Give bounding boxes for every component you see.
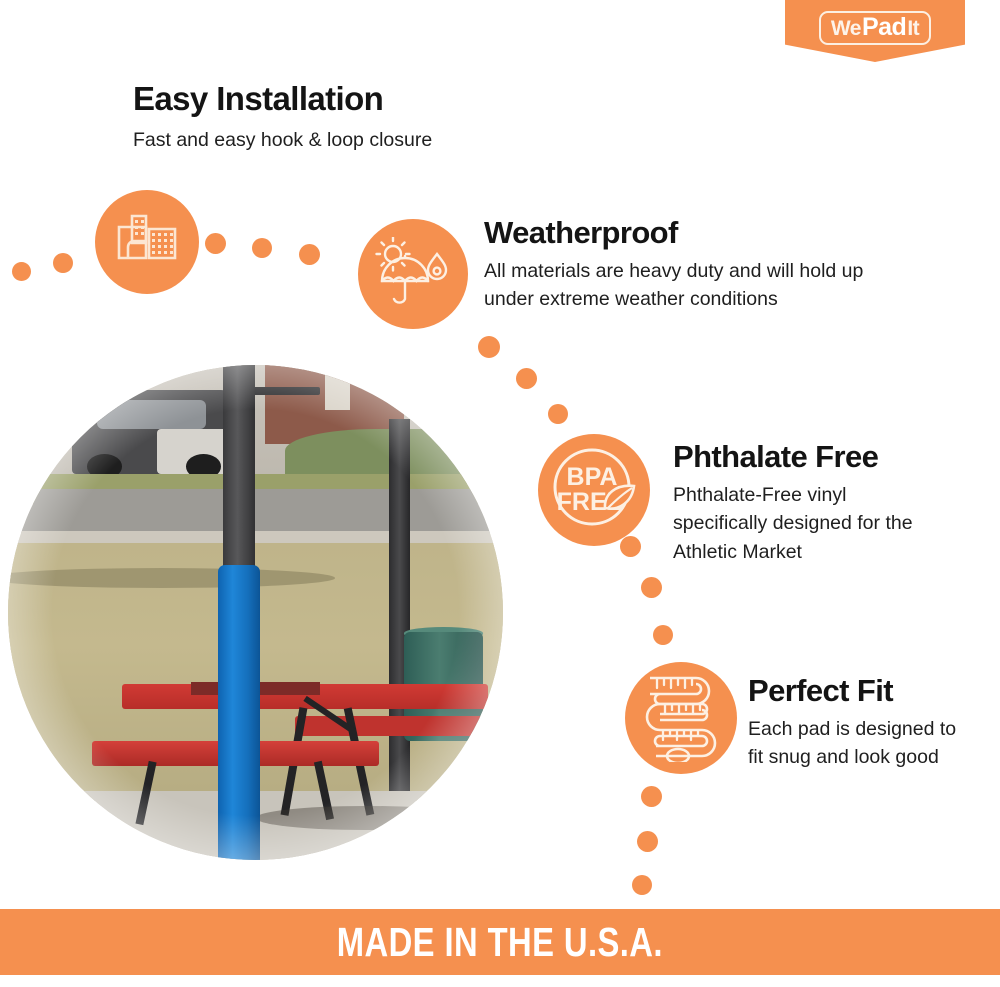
feature-title-easy-installation: Easy Installation (133, 80, 383, 118)
made-in-usa-text: MADE IN THE U.S.A. (337, 919, 663, 966)
brand-logo-suffix: It (907, 18, 919, 39)
photo-dirt-patch (8, 568, 335, 588)
photo-building-window (325, 375, 350, 410)
feature-icon-disc-phthalate-free: BPA FREE (538, 434, 650, 546)
feature-icon-disc-perfect-fit (625, 662, 737, 774)
feature-desc-perfect-fit: Each pad is designed to fit snug and loo… (748, 715, 973, 772)
feature-desc-phthalate-free: Phthalate-Free vinyl specifically design… (673, 481, 933, 566)
path-dot (641, 577, 662, 598)
bpa-free-icon-line1: BPA (567, 463, 618, 491)
path-dot (53, 253, 73, 273)
path-dot (620, 536, 641, 557)
product-photo (8, 365, 503, 860)
photo-suv-window (97, 400, 206, 430)
bpa-free-leaf-icon: BPA FREE (546, 440, 642, 541)
path-dot (637, 831, 658, 852)
path-dot (641, 786, 662, 807)
brand-logo-prefix: We (831, 18, 861, 39)
path-dot (12, 262, 31, 281)
brand-logo-mid: Pad (862, 15, 906, 40)
photo-ground-shadow (256, 806, 479, 831)
umbrella-sun-raindrop-icon (374, 237, 452, 312)
path-dot (516, 368, 537, 389)
photo-road (8, 489, 503, 534)
photo-picnic-bench-far (295, 716, 493, 736)
feature-icon-disc-easy-installation (95, 190, 199, 294)
feature-title-phthalate-free: Phthalate Free (673, 439, 878, 475)
path-dot (548, 404, 568, 424)
measuring-tape-icon (638, 670, 724, 767)
feature-icon-disc-weatherproof (358, 219, 468, 329)
path-dot (299, 244, 320, 265)
brand-logo-frame: We Pad It (819, 11, 931, 45)
feature-title-weatherproof: Weatherproof (484, 215, 678, 251)
made-in-usa-banner: MADE IN THE U.S.A. (0, 909, 1000, 975)
path-dot (653, 625, 673, 645)
feature-desc-weatherproof: All materials are heavy duty and will ho… (484, 257, 904, 314)
brand-logo-badge: We Pad It (785, 0, 965, 62)
hook-and-loop-icon (116, 213, 178, 272)
feature-desc-easy-installation: Fast and easy hook & loop closure (133, 126, 432, 154)
path-dot (632, 875, 652, 895)
path-dot (478, 336, 500, 358)
path-dot (205, 233, 226, 254)
feature-title-perfect-fit: Perfect Fit (748, 673, 893, 709)
photo-blue-post-pad (218, 565, 260, 860)
path-dot (252, 238, 272, 258)
infographic-canvas: We Pad It Easy Installation Fast and eas… (0, 0, 1000, 987)
